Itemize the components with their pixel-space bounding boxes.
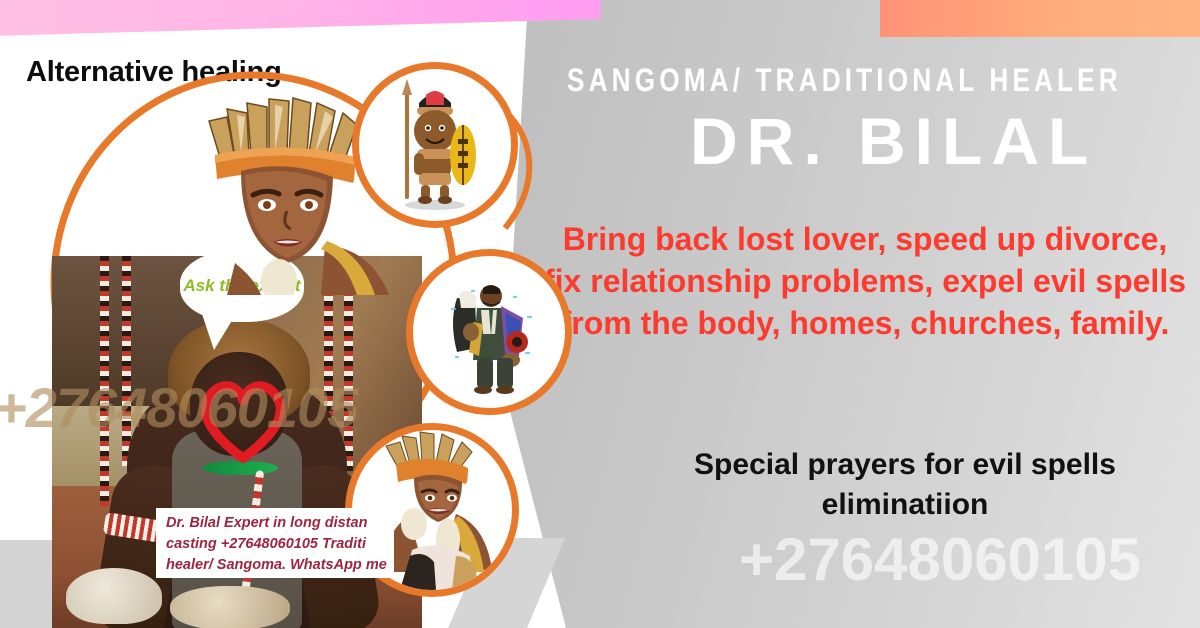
page-title: Alternative healing bbox=[26, 56, 282, 89]
clay-pot-left bbox=[66, 568, 162, 624]
clay-pot-right bbox=[170, 586, 290, 628]
photo-caption-box: Dr. Bilal Expert in long distan casting … bbox=[156, 508, 394, 578]
special-offer-text: Special prayers for evil spells eliminat… bbox=[620, 445, 1190, 525]
caption-line-2: casting +27648060105 Traditi bbox=[166, 534, 386, 555]
photo-phone-watermark: +27648060105 bbox=[0, 375, 464, 440]
caption-line-3: healer/ Sangoma. WhatsApp me bbox=[166, 555, 386, 576]
doctor-name: DR. BILAL bbox=[690, 103, 1200, 179]
poster-canvas: Alternative healing bbox=[0, 0, 1200, 628]
kicker-text: SANGOMA/ TRADITIONAL HEALER bbox=[567, 62, 1067, 99]
zulu-warrior-cartoon-icon bbox=[359, 69, 511, 221]
services-text: Bring back lost lover, speed up divorce,… bbox=[540, 218, 1190, 345]
pink-banner-shape bbox=[0, 0, 601, 36]
orange-top-strip bbox=[880, 0, 1200, 37]
circle-zulu-warrior bbox=[352, 62, 518, 228]
right-phone-watermark: +27648060105 bbox=[660, 525, 1200, 594]
caption-line-1: Dr. Bilal Expert in long distan bbox=[166, 513, 386, 534]
